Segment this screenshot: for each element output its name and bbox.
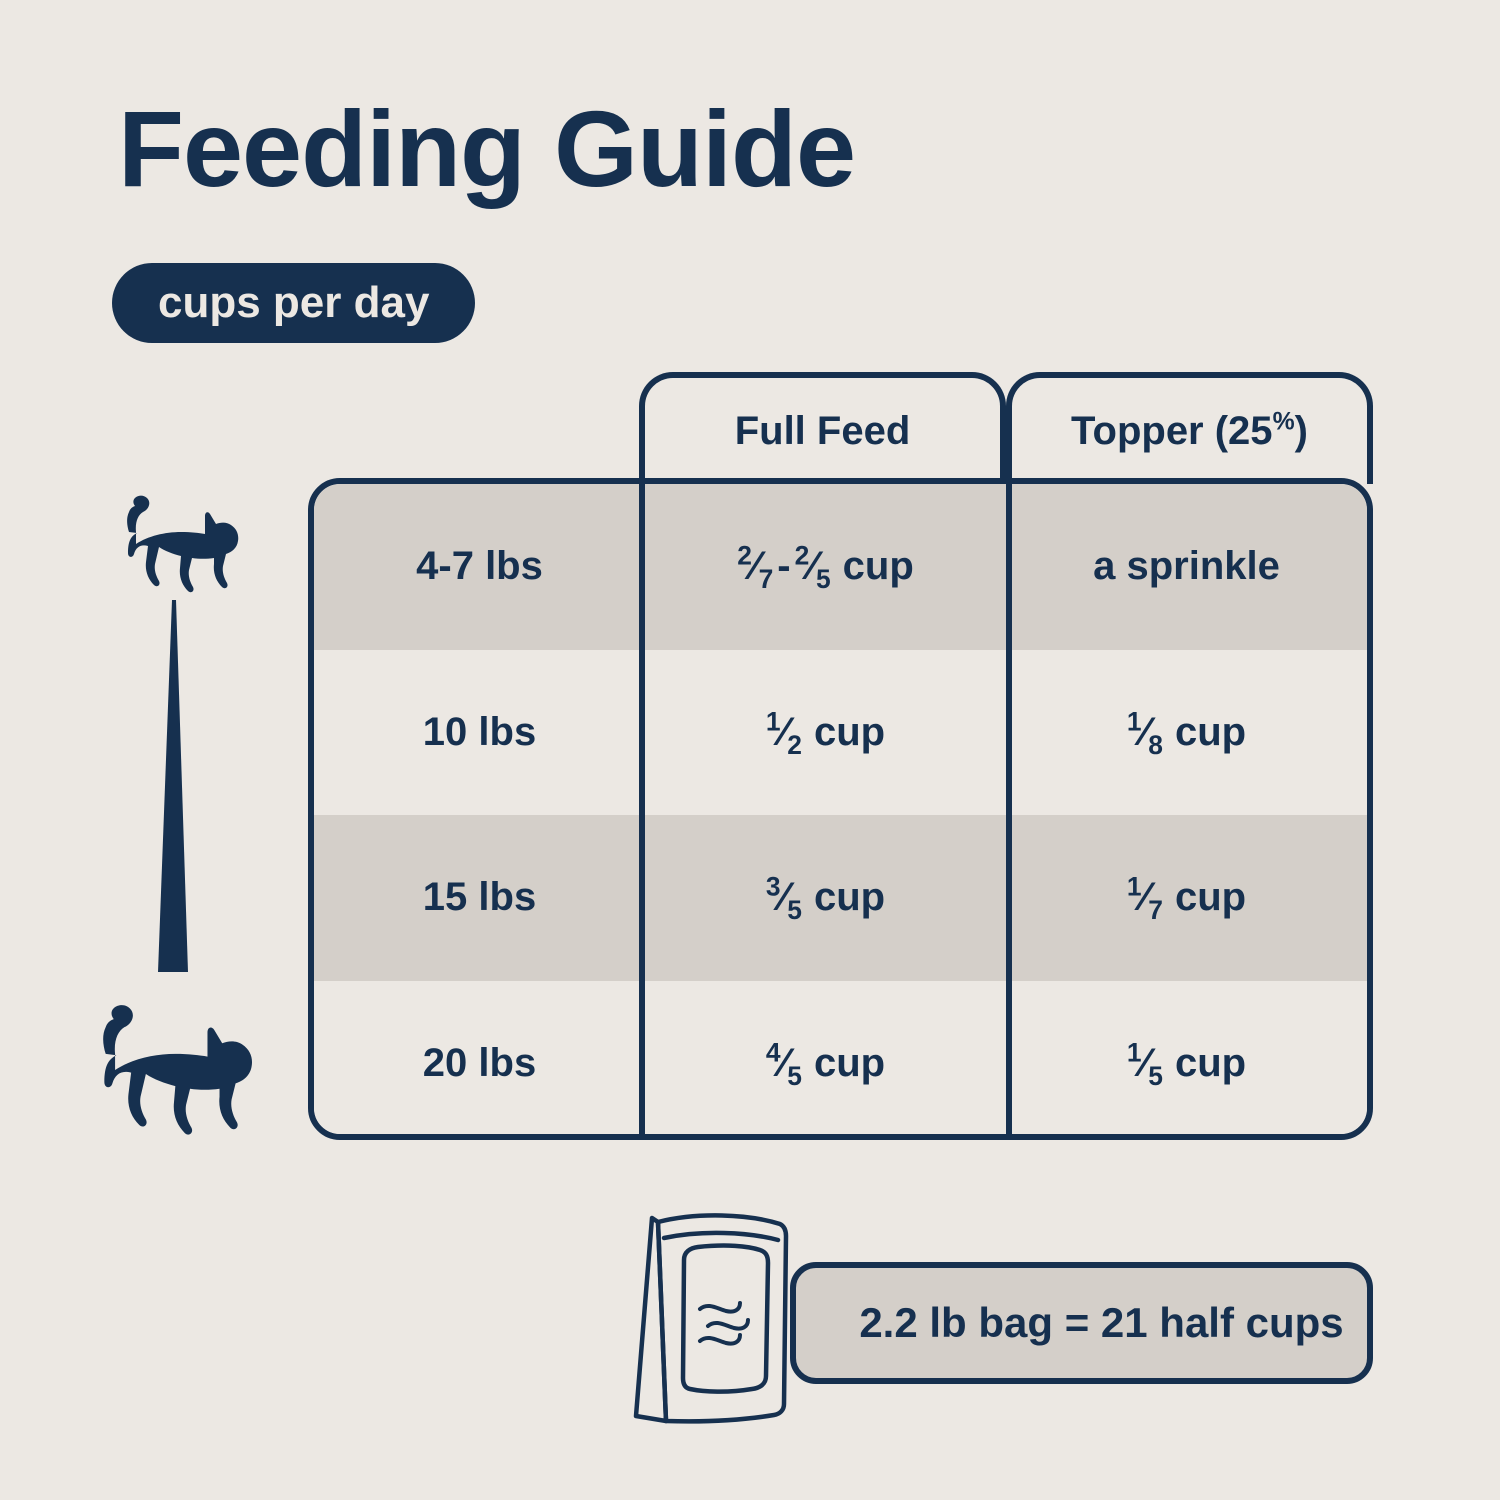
food-bag-icon xyxy=(628,1208,808,1428)
cell-full-feed: 2⁄7-2⁄5cup xyxy=(645,484,1006,650)
fraction-value: 4⁄5 xyxy=(766,1041,802,1086)
fraction-value: 1⁄7 xyxy=(1127,875,1163,920)
table-row: 4-7 lbs 2⁄7-2⁄5cup a sprinkle xyxy=(314,484,1367,650)
subtitle-pill-label: cups per day xyxy=(158,278,429,328)
table-row: 15 lbs 3⁄5cup 1⁄7cup xyxy=(314,815,1367,981)
fraction-value: 2⁄5 xyxy=(795,544,831,589)
percent-symbol: % xyxy=(1273,408,1295,435)
bag-yield-label: 2.2 lb bag = 21 half cups xyxy=(819,1299,1343,1347)
cell-full-feed: 1⁄2cup xyxy=(645,650,1006,816)
cell-weight: 20 lbs xyxy=(314,981,645,1141)
cell-topper: 1⁄8cup xyxy=(1006,650,1367,816)
unit-label: cup xyxy=(1163,1041,1246,1086)
topper-prefix-text: Topper (25 xyxy=(1071,409,1273,453)
table-header-topper: Topper (25%) xyxy=(1006,372,1373,484)
range-dash: - xyxy=(773,544,794,589)
table-row: 10 lbs 1⁄2cup 1⁄8cup xyxy=(314,650,1367,816)
column-divider xyxy=(639,484,645,1134)
fraction-value: 3⁄5 xyxy=(766,875,802,920)
bag-yield-callout: 2.2 lb bag = 21 half cups xyxy=(790,1262,1373,1384)
cat-silhouette-icon xyxy=(85,995,263,1145)
topper-suffix-text: ) xyxy=(1295,409,1308,453)
cell-topper: a sprinkle xyxy=(1006,484,1367,650)
table-header-full-feed: Full Feed xyxy=(639,372,1006,484)
unit-label: cup xyxy=(1163,710,1246,755)
feeding-guide-table: 4-7 lbs 2⁄7-2⁄5cup a sprinkle 10 lbs 1⁄2… xyxy=(308,478,1373,1140)
cell-topper: 1⁄5cup xyxy=(1006,981,1367,1141)
fraction-value: 2⁄7 xyxy=(737,544,773,589)
subtitle-pill-badge: cups per day xyxy=(112,263,475,343)
unit-label: cup xyxy=(802,710,885,755)
table-header-topper-label: Topper (25%) xyxy=(1071,409,1308,454)
unit-label: cup xyxy=(831,544,914,589)
size-gradient-wedge xyxy=(150,600,198,978)
cell-weight: 4-7 lbs xyxy=(314,484,645,650)
cell-full-feed: 3⁄5cup xyxy=(645,815,1006,981)
cell-weight: 15 lbs xyxy=(314,815,645,981)
page-title: Feeding Guide xyxy=(118,95,855,203)
cell-full-feed: 4⁄5cup xyxy=(645,981,1006,1141)
unit-label: cup xyxy=(802,1041,885,1086)
unit-label: cup xyxy=(802,875,885,920)
fraction-value: 1⁄5 xyxy=(1127,1041,1163,1086)
cell-topper: 1⁄7cup xyxy=(1006,815,1367,981)
cat-silhouette-icon xyxy=(115,488,245,600)
column-divider xyxy=(1006,484,1012,1134)
cell-weight: 10 lbs xyxy=(314,650,645,816)
fraction-value: 1⁄2 xyxy=(766,710,802,755)
table-row: 20 lbs 4⁄5cup 1⁄5cup xyxy=(314,981,1367,1141)
fraction-value: 1⁄8 xyxy=(1127,710,1163,755)
table-header-full-feed-label: Full Feed xyxy=(735,409,911,454)
unit-label: cup xyxy=(1163,875,1246,920)
